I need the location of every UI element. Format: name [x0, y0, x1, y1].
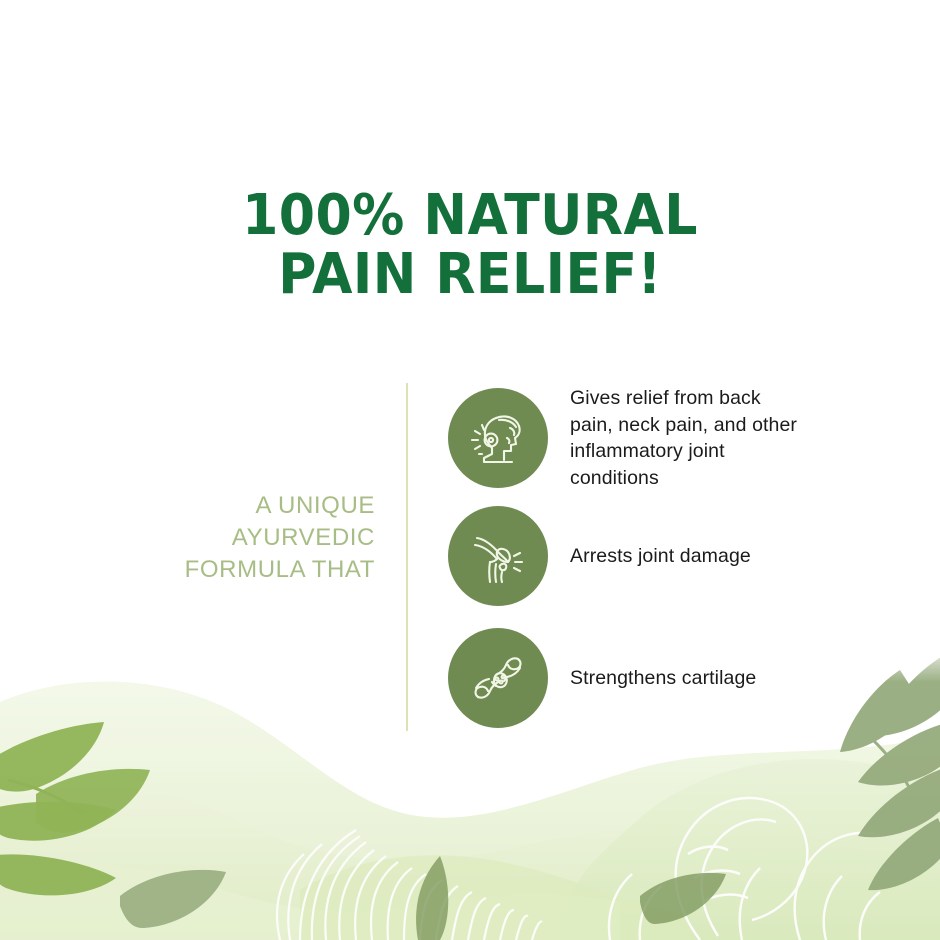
list-item: Strengthens cartilage: [448, 628, 868, 728]
list-item-label: Arrests joint damage: [570, 543, 751, 570]
headline-line-1: 100% NATURAL: [33, 186, 907, 246]
vertical-divider: [406, 383, 408, 731]
benefits-list: Gives relief from back pain, neck pain, …: [448, 380, 868, 735]
subtitle-line-2: AYURVEDIC: [100, 522, 375, 554]
benefits-section: A UNIQUE AYURVEDIC FORMULA THAT: [0, 380, 940, 735]
headline-line-2: PAIN RELIEF!: [33, 245, 907, 305]
section-subtitle: A UNIQUE AYURVEDIC FORMULA THAT: [100, 490, 375, 586]
list-item-label: Gives relief from back pain, neck pain, …: [570, 385, 800, 491]
subtitle-line-3: FORMULA THAT: [100, 554, 375, 586]
head-neck-pain-icon: [448, 388, 548, 488]
poster-canvas: 100% NATURAL PAIN RELIEF! A UNIQUE AYURV…: [0, 0, 940, 940]
knee-joint-icon: [448, 506, 548, 606]
subtitle-line-1: A UNIQUE: [100, 490, 375, 522]
page-title: 100% NATURAL PAIN RELIEF!: [33, 186, 907, 306]
list-item-label: Strengthens cartilage: [570, 665, 756, 692]
list-item: Gives relief from back pain, neck pain, …: [448, 385, 868, 491]
cartilage-joint-icon: [448, 628, 548, 728]
list-item: Arrests joint damage: [448, 506, 868, 606]
